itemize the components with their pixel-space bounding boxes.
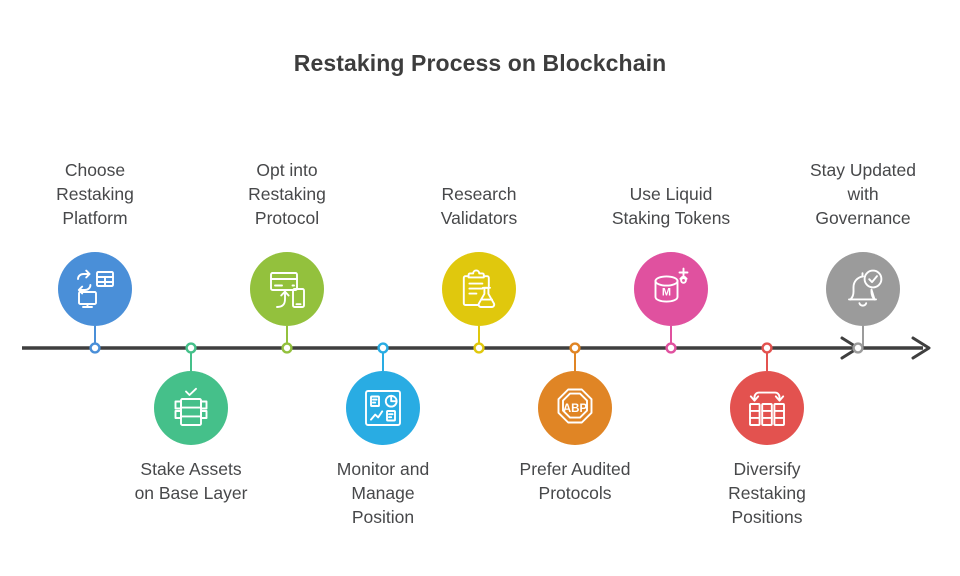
node-label-stake-assets-on-base-layer: Stake Assets on Base Layer [101,457,281,505]
node-icon-circle-monitor-and-manage-position[interactable] [346,371,420,445]
node-icon-circle-prefer-audited-protocols[interactable]: ABP [538,371,612,445]
columns-distribute-arrows-icon [745,386,789,430]
database-token-gear-icon: M [649,267,693,311]
node-icon-circle-use-liquid-staking-tokens[interactable]: M [634,252,708,326]
timeline-dot-research-validators [475,344,484,353]
timeline-node-choose-restaking-platform[interactable]: Choose Restaking Platform [5,132,185,326]
node-label-use-liquid-staking-tokens: Use Liquid Staking Tokens [581,182,761,230]
node-label-research-validators: Research Validators [389,182,569,230]
timeline-dot-prefer-audited-protocols [571,344,580,353]
page-title: Restaking Process on Blockchain [0,50,960,77]
card-phone-arrow-icon [265,267,309,311]
timeline-arrow-right-icon [913,338,929,358]
octagon-abp-badge-icon: ABP [553,386,597,430]
node-icon-circle-diversify-restaking-positions[interactable] [730,371,804,445]
timeline-node-research-validators[interactable]: Research Validators [389,132,569,326]
server-stack-check-icon [169,386,213,430]
clipboard-flask-icon [457,267,501,311]
node-label-stay-updated-with-governance: Stay Updated with Governance [773,158,953,230]
node-icon-circle-stake-assets-on-base-layer[interactable] [154,371,228,445]
timeline-node-stay-updated-with-governance[interactable]: Stay Updated with Governance [773,132,953,326]
timeline-dot-stake-assets-on-base-layer [187,344,196,353]
timeline-dot-monitor-and-manage-position [379,344,388,353]
timeline-node-use-liquid-staking-tokens[interactable]: MUse Liquid Staking Tokens [581,132,761,326]
node-icon-circle-stay-updated-with-governance[interactable] [826,252,900,326]
timeline-dot-use-liquid-staking-tokens [667,344,676,353]
timeline-node-diversify-restaking-positions[interactable]: Diversify Restaking Positions [677,371,857,541]
timeline-arrow-mid-icon [842,338,858,358]
node-label-prefer-audited-protocols: Prefer Audited Protocols [485,457,665,505]
node-label-monitor-and-manage-position: Monitor and Manage Position [293,457,473,529]
timeline-node-prefer-audited-protocols[interactable]: ABPPrefer Audited Protocols [485,371,665,541]
timeline-dot-diversify-restaking-positions [763,344,772,353]
node-icon-circle-opt-into-restaking-protocol[interactable] [250,252,324,326]
timeline-dot-stay-updated-with-governance [854,344,863,353]
icon-inner-text: ABP [563,403,588,415]
timeline-dot-opt-into-restaking-protocol [283,344,292,353]
icon-inner-text: M [662,287,671,299]
node-label-choose-restaking-platform: Choose Restaking Platform [5,158,185,230]
node-label-opt-into-restaking-protocol: Opt into Restaking Protocol [197,158,377,230]
bell-check-icon [841,267,885,311]
dashboard-analytics-icon [361,386,405,430]
timeline-node-monitor-and-manage-position[interactable]: Monitor and Manage Position [293,371,473,541]
node-label-diversify-restaking-positions: Diversify Restaking Positions [677,457,857,529]
infographic-canvas: Restaking Process on Blockchain Choose R… [0,0,960,576]
node-icon-circle-research-validators[interactable] [442,252,516,326]
timeline-node-stake-assets-on-base-layer[interactable]: Stake Assets on Base Layer [101,371,281,541]
node-icon-circle-choose-restaking-platform[interactable] [58,252,132,326]
timeline-node-opt-into-restaking-protocol[interactable]: Opt into Restaking Protocol [197,132,377,326]
timeline-dot-choose-restaking-platform [91,344,100,353]
monitor-table-swap-icon [73,267,117,311]
